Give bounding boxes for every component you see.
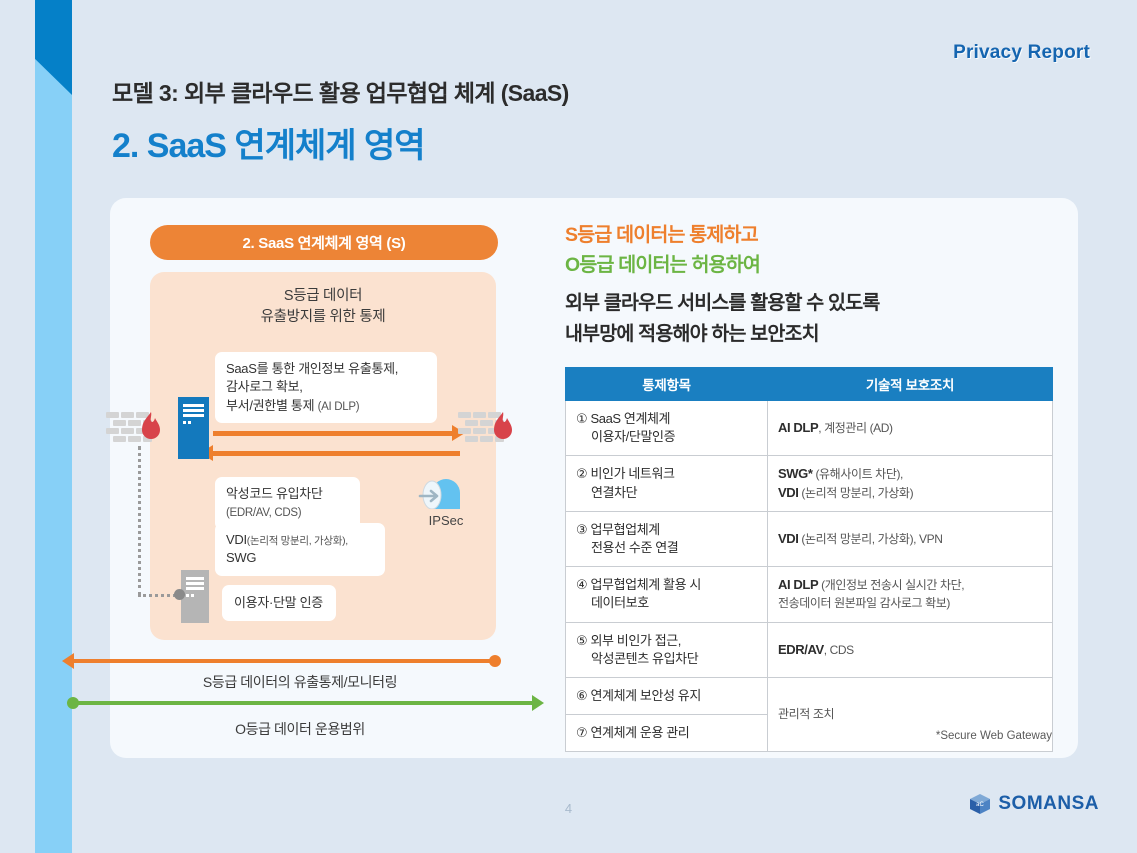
summary-line-2: O등급 데이터는 허용하여: [565, 256, 760, 276]
measure-rest: (개인정보 전송시 실시간 차단,: [818, 578, 964, 592]
server-blue-icon: [178, 397, 209, 459]
table-row: ① SaaS 연계체계 이용자/단말인증 AI DLP, 계정관리 (AD): [566, 401, 1053, 456]
firewall-flame-right-icon: [492, 412, 514, 442]
ipsec-label: IPSec: [406, 513, 486, 528]
firewall-flame-left-icon: [140, 412, 162, 442]
somansa-cube-icon: aC: [969, 793, 991, 815]
item-line2: 데이터보호: [576, 594, 757, 612]
table-cell-item: ④ 업무협업체계 활용 시 데이터보호: [566, 567, 768, 622]
callout-dlp-line3-sub: (AI DLP): [318, 401, 360, 413]
measure2-bold: VDI: [778, 485, 798, 500]
slide-kicker: 모델 3: 외부 클라우드 활용 업무협업 체계 (SaaS): [112, 74, 569, 108]
item-line1: ⑥ 연계체계 보안성 유지: [576, 688, 701, 703]
somansa-logo: aC SOMANSA: [969, 793, 1099, 815]
s-grade-span-label: S등급 데이터의 유출통제/모니터링: [65, 672, 535, 692]
measure-rest: , CDS: [824, 643, 854, 657]
o-grade-span-line: [72, 701, 540, 705]
item-line2: 악성콘텐츠 유입차단: [576, 650, 757, 668]
table-row: ③ 업무협업체계 전용선 수준 연결 VDI (논리적 망분리, 가상화), V…: [566, 511, 1053, 566]
summary-line-1: S등급 데이터는 통제하고: [565, 226, 758, 246]
zone-title-line2: 유출방지를 위한 통제: [261, 309, 386, 325]
callout-dlp: SaaS를 통한 개인정보 유출통제, 감사로그 확보, 부서/권한별 통제 (…: [215, 352, 437, 423]
table-cell-measure: VDI (논리적 망분리, 가상화), VPN: [768, 511, 1053, 566]
page-number: 4: [0, 801, 1137, 816]
measure2-rest: (논리적 망분리, 가상화): [798, 486, 913, 500]
table-row: ② 비인가 네트워크 연결차단 SWG* (유해사이트 차단), VDI (논리…: [566, 456, 1053, 511]
table-row: ⑤ 외부 비인가 접근, 악성콘텐츠 유입차단 EDR/AV, CDS: [566, 622, 1053, 677]
callout-vdi-line2: SWG: [226, 550, 256, 565]
callout-dlp-line1: SaaS를 통한 개인정보 유출통제,: [226, 361, 398, 376]
auth-connector-vertical: [138, 446, 141, 596]
server-grey-icon: [181, 570, 209, 623]
table-footnote: *Secure Web Gateway: [936, 730, 1052, 742]
measure-bold: SWG*: [778, 466, 813, 481]
s-grade-span-dot: [489, 655, 501, 667]
auth-connector-endpoint-dot: [174, 589, 185, 600]
item-line1: ① SaaS 연계체계: [576, 411, 670, 426]
inbound-arrow-line: [213, 451, 460, 456]
table-header-row: 통제항목 기술적 보호조치: [566, 368, 1053, 401]
measure-rest: (논리적 망분리, 가상화), VPN: [798, 532, 942, 546]
svg-text:aC: aC: [977, 802, 985, 808]
item-line1: ④ 업무협업체계 활용 시: [576, 577, 701, 592]
zone-title-line1: S등급 데이터: [284, 288, 362, 304]
item-line2: 연결차단: [576, 484, 757, 502]
item-line1: ⑤ 외부 비인가 접근,: [576, 633, 681, 648]
table-cell-item: ③ 업무협업체계 전용선 수준 연결: [566, 511, 768, 566]
callout-edr: 악성코드 유입차단 (EDR/AV, CDS): [215, 477, 360, 530]
callout-auth: 이용자·단말 인증: [222, 585, 336, 621]
item-line2: 전용선 수준 연결: [576, 539, 757, 557]
table-cell-item: ① SaaS 연계체계 이용자/단말인증: [566, 401, 768, 456]
table-header-technical-measure: 기술적 보호조치: [768, 368, 1053, 401]
item-line1: ⑦ 연계체계 운용 관리: [576, 725, 689, 740]
page-title: 2. SaaS 연계체계 영역: [112, 118, 425, 167]
summary-line-4: 내부망에 적용해야 하는 보안조치: [565, 325, 819, 345]
measure-rest: (유해사이트 차단),: [813, 467, 903, 481]
callout-dlp-line3: 부서/권한별 통제: [226, 398, 318, 413]
callout-auth-line1: 이용자·단말 인증: [234, 595, 323, 610]
outbound-arrow-line: [213, 431, 460, 436]
measure-bold: AI DLP: [778, 577, 818, 592]
callout-edr-line1: 악성코드 유입차단: [226, 486, 323, 501]
o-grade-span-dot: [67, 697, 79, 709]
zone-title: S등급 데이터 유출방지를 위한 통제: [150, 286, 496, 328]
table-row: ⑥ 연계체계 보안성 유지 관리적 조치: [566, 677, 1053, 714]
table-cell-measure: SWG* (유해사이트 차단), VDI (논리적 망분리, 가상화): [768, 456, 1053, 511]
privacy-report-label: Privacy Report: [953, 42, 1090, 64]
o-grade-span-label: O등급 데이터 운용범위: [65, 719, 535, 739]
callout-vdi: VDI(논리적 망분리, 가상화), SWG: [215, 523, 385, 576]
measure-bold: EDR/AV: [778, 642, 824, 657]
item-line1: ② 비인가 네트워크: [576, 466, 675, 481]
measure-bold: VDI: [778, 531, 798, 546]
somansa-logo-text: SOMANSA: [998, 793, 1099, 815]
callout-edr-line2: (EDR/AV, CDS): [226, 507, 301, 519]
summary-line-3: 외부 클라우드 서비스를 활용할 수 있도록: [565, 294, 879, 314]
callout-vdi-line1: VDI: [226, 532, 247, 547]
table-cell-item: ② 비인가 네트워크 연결차단: [566, 456, 768, 511]
ipsec-tunnel-icon: [418, 479, 474, 509]
o-grade-span-arrowhead-icon: [532, 695, 544, 711]
table-cell-item: ⑥ 연계체계 보안성 유지: [566, 677, 768, 714]
s-grade-span-line: [72, 659, 496, 663]
item-line2: 이용자/단말인증: [576, 428, 757, 446]
table-cell-measure: EDR/AV, CDS: [768, 622, 1053, 677]
callout-dlp-line2: 감사로그 확보,: [226, 379, 303, 394]
table-cell-item: ⑦ 연계체계 운용 관리: [566, 715, 768, 752]
zone-badge: 2. SaaS 연계체계 영역 (S): [150, 225, 498, 260]
measure2-rest: 전송데이터 원본파일 감사로그 확보): [778, 596, 950, 610]
controls-table: 통제항목 기술적 보호조치 ① SaaS 연계체계 이용자/단말인증 AI DL…: [565, 367, 1053, 752]
measure-rest: , 계정관리 (AD): [818, 421, 892, 435]
measure-bold: AI DLP: [778, 420, 818, 435]
s-grade-span-arrowhead-icon: [62, 653, 74, 669]
table-row: ④ 업무협업체계 활용 시 데이터보호 AI DLP (개인정보 전송시 실시간…: [566, 567, 1053, 622]
callout-vdi-line1-sub: (논리적 망분리, 가상화),: [247, 535, 348, 547]
table-header-control-item: 통제항목: [566, 368, 768, 401]
table-cell-item: ⑤ 외부 비인가 접근, 악성콘텐츠 유입차단: [566, 622, 768, 677]
measure-rest: 관리적 조치: [778, 707, 834, 721]
item-line1: ③ 업무협업체계: [576, 522, 660, 537]
table-cell-measure: AI DLP, 계정관리 (AD): [768, 401, 1053, 456]
slide-root: Privacy Report 모델 3: 외부 클라우드 활용 업무협업 체계 …: [0, 0, 1137, 853]
table-cell-measure: AI DLP (개인정보 전송시 실시간 차단, 전송데이터 원본파일 감사로그…: [768, 567, 1053, 622]
